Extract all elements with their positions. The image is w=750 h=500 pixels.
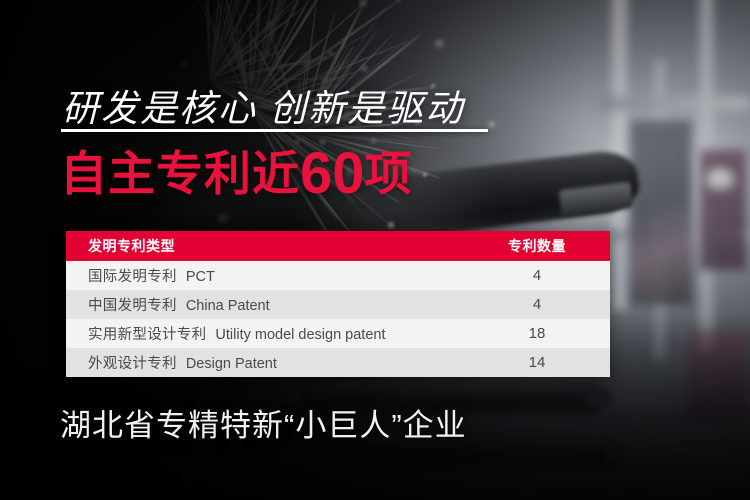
headline-main-number: 60 [300,141,365,206]
table-cell-count: 4 [472,296,610,313]
table-cell-count: 18 [472,325,610,342]
table-header-row: 发明专利类型 专利数量 [66,231,610,261]
table-row: 国际发明专利PCT4 [66,261,610,290]
patent-type-cn: 实用新型设计专利 [88,327,206,343]
headline-main-suffix: 项 [365,147,413,200]
table-row: 外观设计专利Design Patent14 [66,348,610,377]
headline-top: 研发是核心 创新是驱动 [62,78,464,132]
table-body: 国际发明专利PCT4中国发明专利China Patent4实用新型设计专利Uti… [66,261,610,377]
table-cell-type: 中国发明专利China Patent [66,294,472,315]
table-cell-type: 外观设计专利Design Patent [66,352,472,373]
patent-type-en: Design Patent [186,356,277,372]
patent-table: 发明专利类型 专利数量 国际发明专利PCT4中国发明专利China Patent… [66,231,610,377]
table-cell-count: 4 [472,267,610,284]
table-row: 中国发明专利China Patent4 [66,290,610,319]
patent-type-cn: 外观设计专利 [88,356,177,372]
table-cell-type: 国际发明专利PCT [66,265,472,286]
table-row: 实用新型设计专利Utility model design patent18 [66,319,610,348]
headline-main-prefix: 自主专利近 [60,147,300,200]
patent-type-cn: 国际发明专利 [88,269,177,285]
patent-type-en: PCT [186,269,215,285]
table-header-type: 发明专利类型 [66,236,472,256]
table-cell-type: 实用新型设计专利Utility model design patent [66,323,472,344]
banner-image: 研发是核心 创新是驱动 自主专利近60项 发明专利类型 专利数量 国际发明专利P… [0,0,750,500]
table-header-count: 专利数量 [472,236,610,256]
patent-type-cn: 中国发明专利 [88,298,177,314]
footer-caption: 湖北省专精特新“小巨人”企业 [60,400,467,445]
patent-type-en: Utility model design patent [215,327,385,343]
headline-main: 自主专利近60项 [60,142,413,206]
headline-divider [61,129,488,132]
patent-type-en: China Patent [186,298,270,314]
table-cell-count: 14 [472,354,610,371]
